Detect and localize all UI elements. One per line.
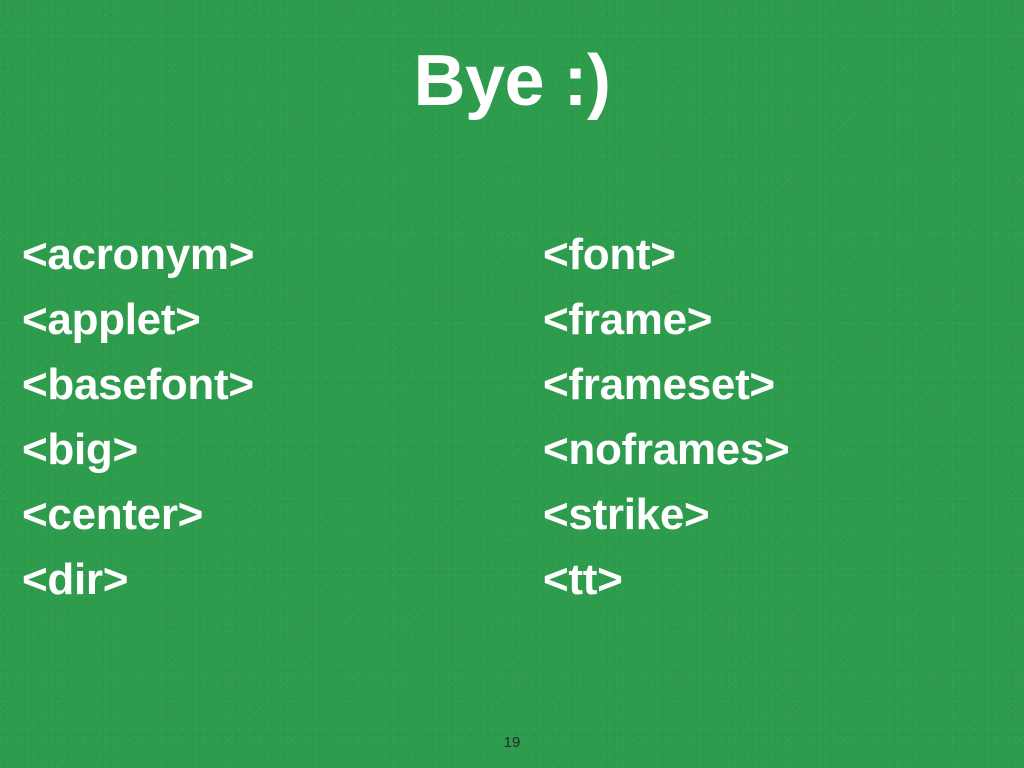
list-item: <big>: [22, 417, 254, 482]
list-item: <frameset>: [543, 352, 789, 417]
list-item: <tt>: [543, 547, 789, 612]
list-item: <noframes>: [543, 417, 789, 482]
list-item: <font>: [543, 222, 789, 287]
list-item: <basefont>: [22, 352, 254, 417]
list-item: <dir>: [22, 547, 254, 612]
tag-column-left: <acronym> <applet> <basefont> <big> <cen…: [22, 222, 254, 612]
list-item: <applet>: [22, 287, 254, 352]
deprecated-tag-list: <acronym> <applet> <basefont> <big> <cen…: [0, 222, 1024, 602]
list-item: <acronym>: [22, 222, 254, 287]
list-item: <strike>: [543, 482, 789, 547]
page-title: Bye :): [0, 44, 1024, 120]
tag-column-right: <font> <frame> <frameset> <noframes> <st…: [543, 222, 789, 612]
list-item: <center>: [22, 482, 254, 547]
page-number: 19: [0, 734, 1024, 752]
slide-canvas: Bye :) <acronym> <applet> <basefont> <bi…: [0, 0, 1024, 768]
list-item: <frame>: [543, 287, 789, 352]
